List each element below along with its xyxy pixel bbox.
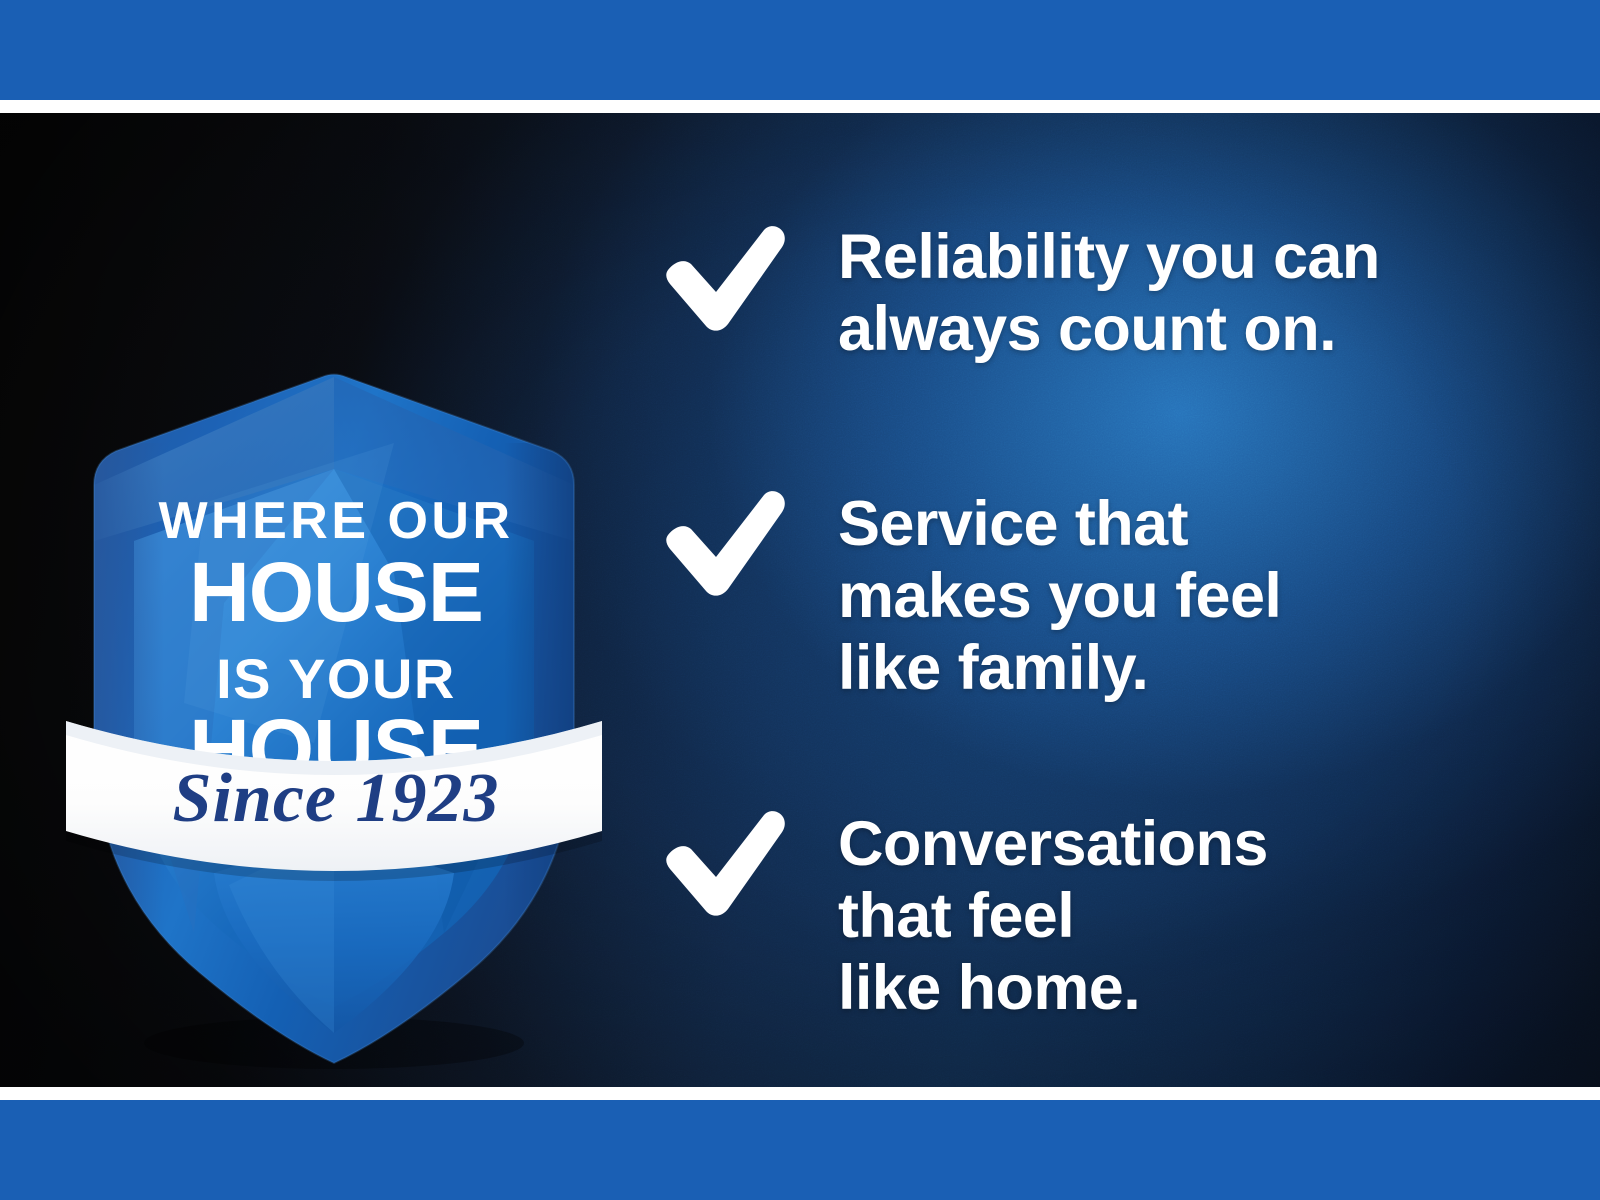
promo-poster: WHERE OUR HOUSE IS YOUR HOUSE Since 1923… bbox=[0, 0, 1600, 1200]
value-proposition-checklist: Reliability you can always count on. Ser… bbox=[660, 208, 1560, 1068]
heritage-shield-badge: WHERE OUR HOUSE IS YOUR HOUSE Since 1923… bbox=[64, 273, 604, 1063]
badge-ribbon-text: Since 1923 bbox=[173, 760, 500, 837]
checklist-item: Reliability you can always count on. bbox=[660, 218, 1380, 366]
top-white-divider bbox=[0, 100, 1600, 113]
check-icon bbox=[660, 218, 790, 338]
top-brand-bar bbox=[0, 0, 1600, 100]
bottom-white-divider bbox=[0, 1087, 1600, 1100]
checklist-item-text: Conversations that feel like home. bbox=[838, 809, 1268, 1024]
checklist-item-text: Reliability you can always count on. bbox=[838, 222, 1380, 366]
check-icon bbox=[660, 803, 790, 923]
checklist-item: Service that makes you feel like family. bbox=[660, 483, 1281, 704]
bottom-brand-bar bbox=[0, 1100, 1600, 1200]
check-icon bbox=[660, 483, 790, 603]
checklist-item-text: Service that makes you feel like family. bbox=[838, 489, 1281, 704]
badge-line-2: HOUSE bbox=[189, 545, 483, 639]
poster-stage: WHERE OUR HOUSE IS YOUR HOUSE Since 1923… bbox=[0, 113, 1600, 1087]
checklist-item: Conversations that feel like home. bbox=[660, 803, 1268, 1024]
badge-line-1: WHERE OUR bbox=[158, 492, 513, 550]
badge-line-3: IS YOUR bbox=[216, 647, 456, 710]
